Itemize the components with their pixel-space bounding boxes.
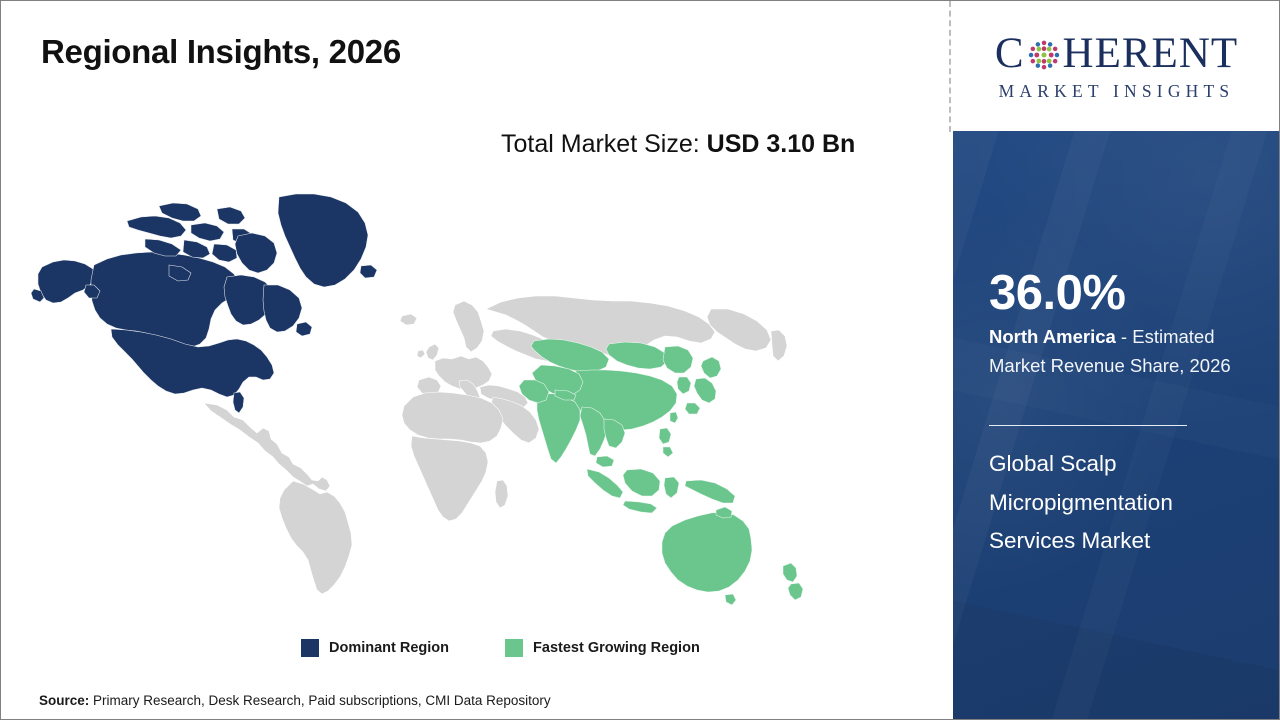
main-content-panel: Regional Insights, 2026 Total Market Siz…: [1, 1, 949, 719]
globe-dots-icon: [1026, 37, 1062, 73]
legend-label-fastest-growing: Fastest Growing Region: [533, 640, 700, 656]
map-region-asia-pacific: [519, 339, 803, 605]
world-map-container: [31, 181, 891, 611]
market-name: Global Scalp Micropigmentation Services …: [989, 445, 1261, 561]
brand-logo-letters-herent: HERENT: [1063, 32, 1239, 75]
legend-item-fastest-growing: Fastest Growing Region: [505, 639, 700, 657]
legend-label-dominant: Dominant Region: [329, 640, 449, 656]
brand-logo-letter-c: C: [995, 32, 1025, 75]
regional-insights-infographic: Regional Insights, 2026 Total Market Siz…: [0, 0, 1280, 720]
brand-logo-tagline: MARKET INSIGHTS: [999, 81, 1235, 102]
source-text: Primary Research, Desk Research, Paid su…: [93, 693, 551, 708]
page-title: Regional Insights, 2026: [41, 33, 401, 71]
legend-item-dominant: Dominant Region: [301, 639, 449, 657]
total-market-size-label: Total Market Size:: [501, 130, 707, 158]
brand-logo: C: [953, 2, 1280, 131]
map-legend: Dominant Region Fastest Growing Region: [301, 639, 700, 657]
source-label: Source:: [39, 693, 93, 708]
square-swatch-icon: [301, 639, 319, 657]
brand-logo-wordmark: C: [995, 32, 1238, 75]
highlight-side-panel: 36.0% North America - Estimated Market R…: [953, 131, 1280, 719]
market-share-description: North America - Estimated Market Revenue…: [989, 323, 1257, 380]
vertical-dashed-divider: [949, 1, 951, 132]
square-swatch-icon: [505, 639, 523, 657]
map-region-north-america: [31, 194, 377, 413]
panel-horizontal-divider: [989, 425, 1187, 426]
market-share-percentage: 36.0%: [989, 269, 1125, 318]
market-share-region-name: North America: [989, 326, 1116, 347]
world-map: [31, 181, 891, 611]
total-market-size-value: USD 3.10 Bn: [707, 130, 856, 158]
total-market-size: Total Market Size: USD 3.10 Bn: [501, 125, 893, 165]
source-note: Source: Primary Research, Desk Research,…: [39, 693, 551, 708]
